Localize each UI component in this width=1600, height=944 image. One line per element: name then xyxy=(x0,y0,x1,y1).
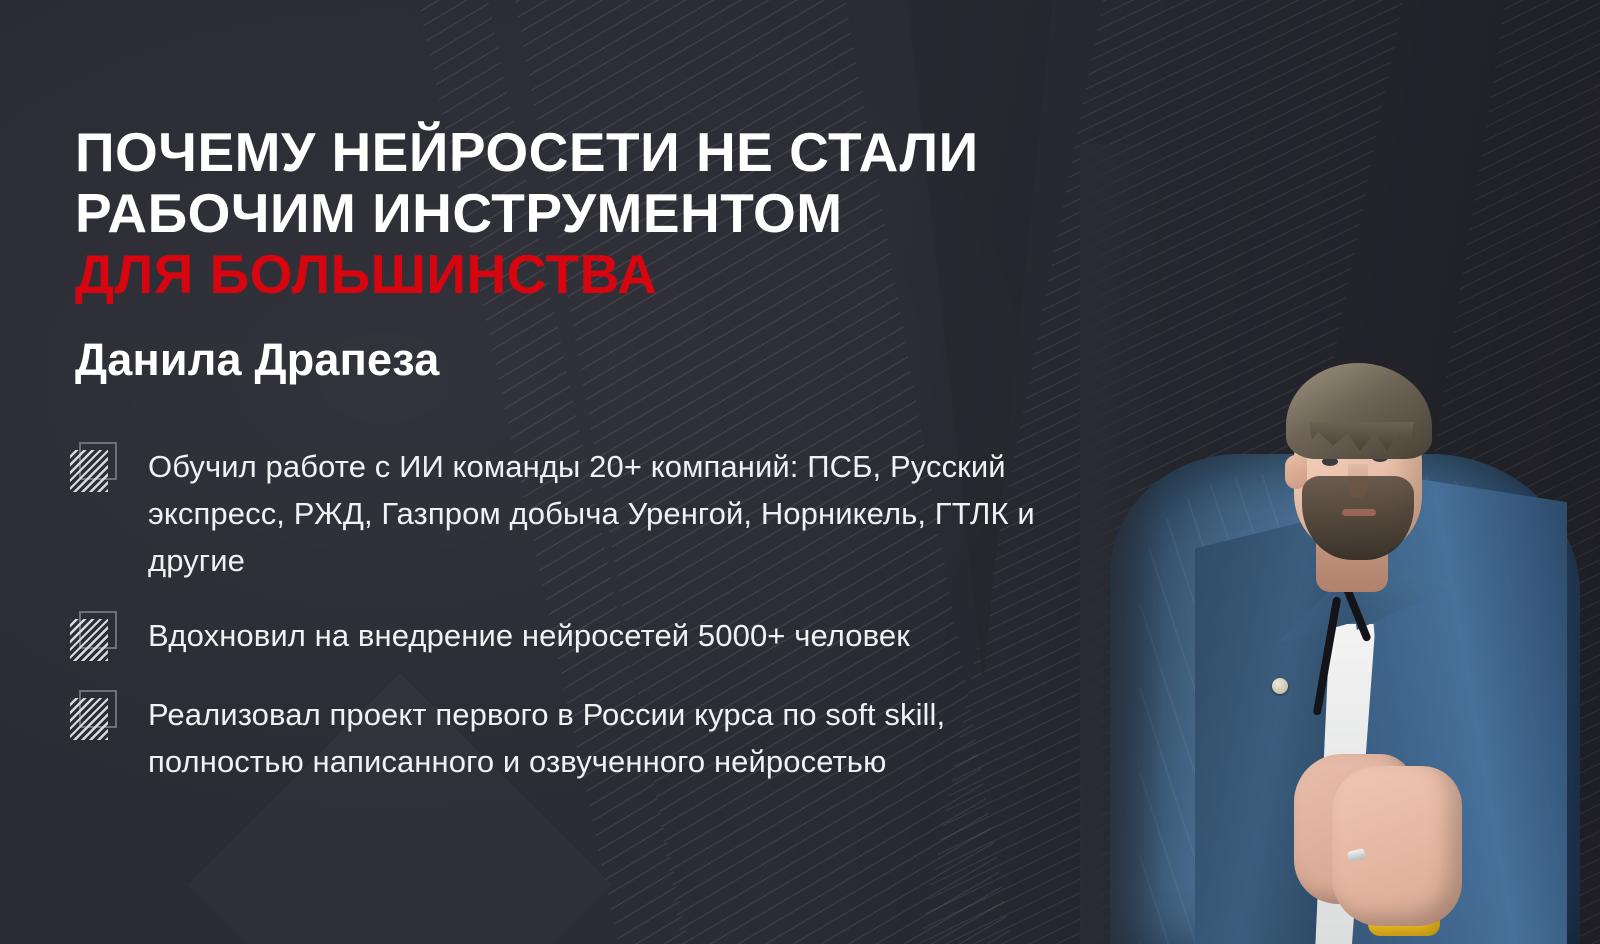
slide-content: ПОЧЕМУ НЕЙРОСЕТИ НЕ СТАЛИ РАБОЧИМ ИНСТРУ… xyxy=(0,0,1600,944)
hatched-square-icon xyxy=(70,617,116,663)
title-line-2: РАБОЧИМ ИНСТРУМЕНТОМ xyxy=(75,183,1075,244)
hatched-square-fill xyxy=(70,450,108,492)
list-item-label: Реализовал проект первого в России курса… xyxy=(148,691,1060,785)
speaker-name: Данила Драпеза xyxy=(75,333,439,387)
list-item: Реализовал проект первого в России курса… xyxy=(70,691,1060,785)
list-item-label: Вдохновил на внедрение нейросетей 5000+ … xyxy=(148,612,910,659)
hatched-square-fill xyxy=(70,619,108,661)
bullet-list: Обучил работе с ИИ команды 20+ компаний:… xyxy=(70,443,1060,785)
presentation-slide: ПОЧЕМУ НЕЙРОСЕТИ НЕ СТАЛИ РАБОЧИМ ИНСТРУ… xyxy=(0,0,1600,944)
hatched-square-fill xyxy=(70,698,108,740)
list-item: Вдохновил на внедрение нейросетей 5000+ … xyxy=(70,612,1060,663)
slide-title: ПОЧЕМУ НЕЙРОСЕТИ НЕ СТАЛИ РАБОЧИМ ИНСТРУ… xyxy=(75,122,1075,305)
hatched-square-icon xyxy=(70,448,116,494)
hatched-square-icon xyxy=(70,696,116,742)
title-line-3-accent: ДЛЯ БОЛЬШИНСТВА xyxy=(75,244,1075,305)
title-line-1: ПОЧЕМУ НЕЙРОСЕТИ НЕ СТАЛИ xyxy=(75,122,1075,183)
list-item-label: Обучил работе с ИИ команды 20+ компаний:… xyxy=(148,443,1060,584)
list-item: Обучил работе с ИИ команды 20+ компаний:… xyxy=(70,443,1060,584)
